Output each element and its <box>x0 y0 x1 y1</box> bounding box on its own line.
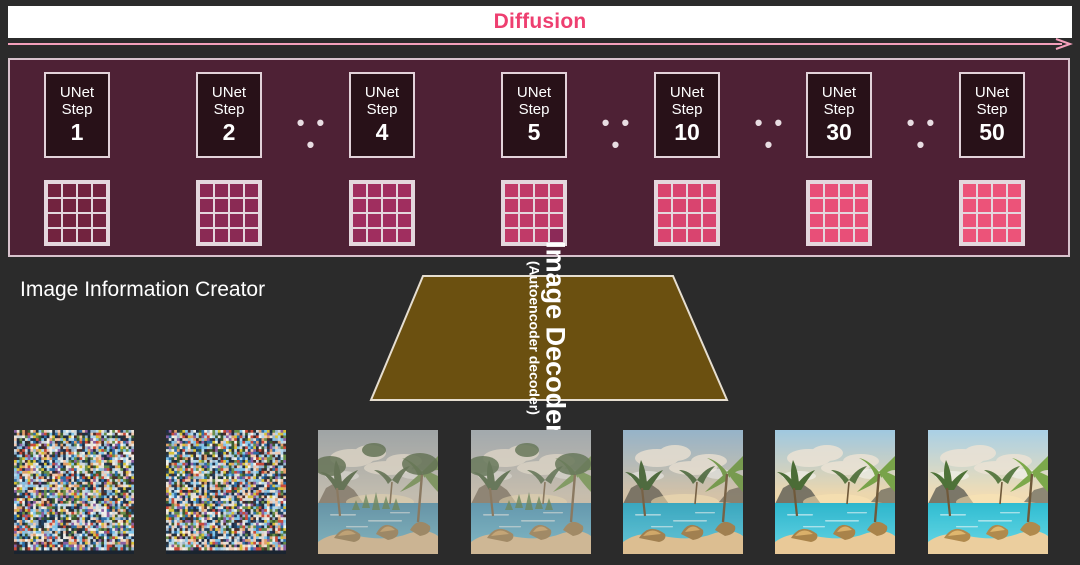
latent-cell <box>688 199 701 212</box>
unet-label-line1: UNet <box>822 85 856 101</box>
latent-cell <box>353 184 366 197</box>
latent-cell <box>383 214 396 227</box>
latent-cell <box>550 184 563 197</box>
latent-cell <box>78 184 91 197</box>
latent-cell <box>825 229 838 242</box>
latent-cell <box>1008 199 1021 212</box>
latent-cell <box>505 184 518 197</box>
unet-label-line2: Step <box>519 102 550 118</box>
unet-label-line2: Step <box>367 102 398 118</box>
latent-cell <box>673 229 686 242</box>
latent-cell <box>978 199 991 212</box>
latent-cell <box>703 184 716 197</box>
latent-cell <box>48 199 61 212</box>
latent-cell <box>93 229 106 242</box>
step-ellipsis: • • • <box>905 112 939 156</box>
step-ellipsis: • • • <box>753 112 787 156</box>
unet-step-number: 5 <box>528 120 541 145</box>
latent-cell <box>383 229 396 242</box>
beach-scene-mid <box>623 430 743 554</box>
unet-step-number: 10 <box>674 120 700 145</box>
latent-cell <box>550 199 563 212</box>
latent-cell <box>1008 214 1021 227</box>
latent-cell <box>200 184 213 197</box>
latent-cell <box>383 199 396 212</box>
latent-cell <box>1008 184 1021 197</box>
latent-cell <box>855 184 868 197</box>
unet-step-number: 2 <box>223 120 236 145</box>
latent-cell <box>703 199 716 212</box>
latent-cell <box>230 229 243 242</box>
latent-grid-step-10 <box>654 180 720 246</box>
latent-cell <box>703 214 716 227</box>
unet-label-line1: UNet <box>212 85 246 101</box>
unet-step-number: 1 <box>71 120 84 145</box>
latent-cell <box>215 214 228 227</box>
latent-cell <box>215 184 228 197</box>
latent-cell <box>658 199 671 212</box>
latent-cell <box>855 199 868 212</box>
latent-cell <box>993 214 1006 227</box>
latent-grid-step-1 <box>44 180 110 246</box>
unet-step-box-10[interactable]: UNetStep10 <box>654 72 720 158</box>
beach-scene-final <box>928 430 1048 554</box>
latent-cell <box>963 199 976 212</box>
diffusion-banner: Diffusion <box>8 6 1072 38</box>
latent-cell <box>230 214 243 227</box>
latent-cell <box>63 214 76 227</box>
latent-cell <box>520 214 533 227</box>
latent-noise-1 <box>14 430 134 554</box>
latent-cell <box>535 229 548 242</box>
latent-cell <box>215 199 228 212</box>
unet-label-line2: Step <box>62 102 93 118</box>
latent-cell <box>63 199 76 212</box>
latent-cell <box>963 184 976 197</box>
latent-cell <box>688 184 701 197</box>
latent-cell <box>993 184 1006 197</box>
latent-cell <box>520 229 533 242</box>
latent-cell <box>368 199 381 212</box>
latent-cell <box>825 184 838 197</box>
unet-step-number: 50 <box>979 120 1005 145</box>
beach-scene-early-1 <box>318 430 438 554</box>
latent-cell <box>368 214 381 227</box>
latent-cell <box>1008 229 1021 242</box>
unet-label-line2: Step <box>977 102 1008 118</box>
latent-cell <box>200 199 213 212</box>
latent-cell <box>383 184 396 197</box>
latent-cell <box>993 199 1006 212</box>
latent-cell <box>825 214 838 227</box>
latent-cell <box>398 199 411 212</box>
image-decoder-block: Image Decoder (Autoencoder decoder) <box>365 272 731 404</box>
latent-cell <box>245 199 258 212</box>
latent-cell <box>810 184 823 197</box>
unet-step-number: 30 <box>826 120 852 145</box>
unet-step-box-30[interactable]: UNetStep30 <box>806 72 872 158</box>
latent-cell <box>63 184 76 197</box>
unet-label-line1: UNet <box>60 85 94 101</box>
beach-scene-late <box>775 430 895 554</box>
latent-cell <box>978 184 991 197</box>
latent-grid-step-50 <box>959 180 1025 246</box>
latent-cell <box>658 214 671 227</box>
latent-cell <box>398 214 411 227</box>
latent-cell <box>855 214 868 227</box>
latent-cell <box>550 229 563 242</box>
latent-cell <box>840 199 853 212</box>
unet-step-box-50[interactable]: UNetStep50 <box>959 72 1025 158</box>
latent-cell <box>353 199 366 212</box>
latent-cell <box>688 214 701 227</box>
latent-cell <box>993 229 1006 242</box>
latent-cell <box>840 229 853 242</box>
latent-cell <box>93 214 106 227</box>
latent-cell <box>658 184 671 197</box>
latent-cell <box>688 229 701 242</box>
latent-cell <box>825 199 838 212</box>
latent-cell <box>505 199 518 212</box>
latent-cell <box>48 184 61 197</box>
latent-cell <box>93 199 106 212</box>
latent-cell <box>978 229 991 242</box>
latent-cell <box>978 214 991 227</box>
unet-label-line1: UNet <box>975 85 1009 101</box>
decoder-trapezoid-shape <box>365 272 731 404</box>
unet-step-box-1[interactable]: UNetStep1 <box>44 72 110 158</box>
unet-step-number: 4 <box>376 120 389 145</box>
latent-cell <box>535 184 548 197</box>
latent-cell <box>810 199 823 212</box>
unet-step-box-2[interactable]: UNetStep2 <box>196 72 262 158</box>
step-ellipsis: • • • <box>600 112 634 156</box>
latent-cell <box>535 199 548 212</box>
latent-cell <box>505 229 518 242</box>
unet-label-line1: UNet <box>670 85 704 101</box>
unet-step-box-5[interactable]: UNetStep5 <box>501 72 567 158</box>
latent-cell <box>505 214 518 227</box>
step-ellipsis: • • • <box>295 112 329 156</box>
image-information-creator-label: Image Information Creator <box>20 278 265 302</box>
latent-cell <box>48 229 61 242</box>
unet-step-box-4[interactable]: UNetStep4 <box>349 72 415 158</box>
latent-cell <box>658 229 671 242</box>
latent-cell <box>840 184 853 197</box>
latent-cell <box>398 184 411 197</box>
latent-cell <box>673 184 686 197</box>
latent-cell <box>520 184 533 197</box>
latent-cell <box>78 229 91 242</box>
latent-grid-step-5 <box>501 180 567 246</box>
latent-cell <box>78 214 91 227</box>
latent-cell <box>368 229 381 242</box>
latent-cell <box>520 199 533 212</box>
latent-cell <box>215 229 228 242</box>
latent-cell <box>48 214 61 227</box>
latent-cell <box>673 214 686 227</box>
latent-cell <box>230 199 243 212</box>
diffusion-panel: UNetStep1UNetStep2UNetStep4UNetStep5UNet… <box>8 58 1070 257</box>
latent-cell <box>245 214 258 227</box>
latent-cell <box>63 229 76 242</box>
beach-scene-early-2 <box>471 430 591 554</box>
latent-cell <box>353 229 366 242</box>
latent-cell <box>200 214 213 227</box>
unet-label-line2: Step <box>824 102 855 118</box>
latent-cell <box>810 214 823 227</box>
latent-cell <box>673 199 686 212</box>
right-arrow-icon <box>6 38 1074 50</box>
latent-grid-step-2 <box>196 180 262 246</box>
latent-cell <box>353 214 366 227</box>
diffusion-banner-label: Diffusion <box>494 10 587 34</box>
latent-cell <box>230 184 243 197</box>
unet-label-line1: UNet <box>517 85 551 101</box>
latent-cell <box>963 229 976 242</box>
latent-cell <box>855 229 868 242</box>
latent-cell <box>550 214 563 227</box>
latent-grid-step-4 <box>349 180 415 246</box>
latent-noise-2 <box>166 430 286 554</box>
unet-label-line1: UNet <box>365 85 399 101</box>
latent-cell <box>245 184 258 197</box>
latent-cell <box>535 214 548 227</box>
latent-cell <box>703 229 716 242</box>
unet-label-line2: Step <box>672 102 703 118</box>
latent-cell <box>78 199 91 212</box>
latent-cell <box>963 214 976 227</box>
latent-cell <box>840 214 853 227</box>
latent-cell <box>368 184 381 197</box>
latent-cell <box>810 229 823 242</box>
latent-grid-step-30 <box>806 180 872 246</box>
latent-cell <box>245 229 258 242</box>
latent-cell <box>93 184 106 197</box>
latent-cell <box>200 229 213 242</box>
unet-label-line2: Step <box>214 102 245 118</box>
latent-cell <box>398 229 411 242</box>
